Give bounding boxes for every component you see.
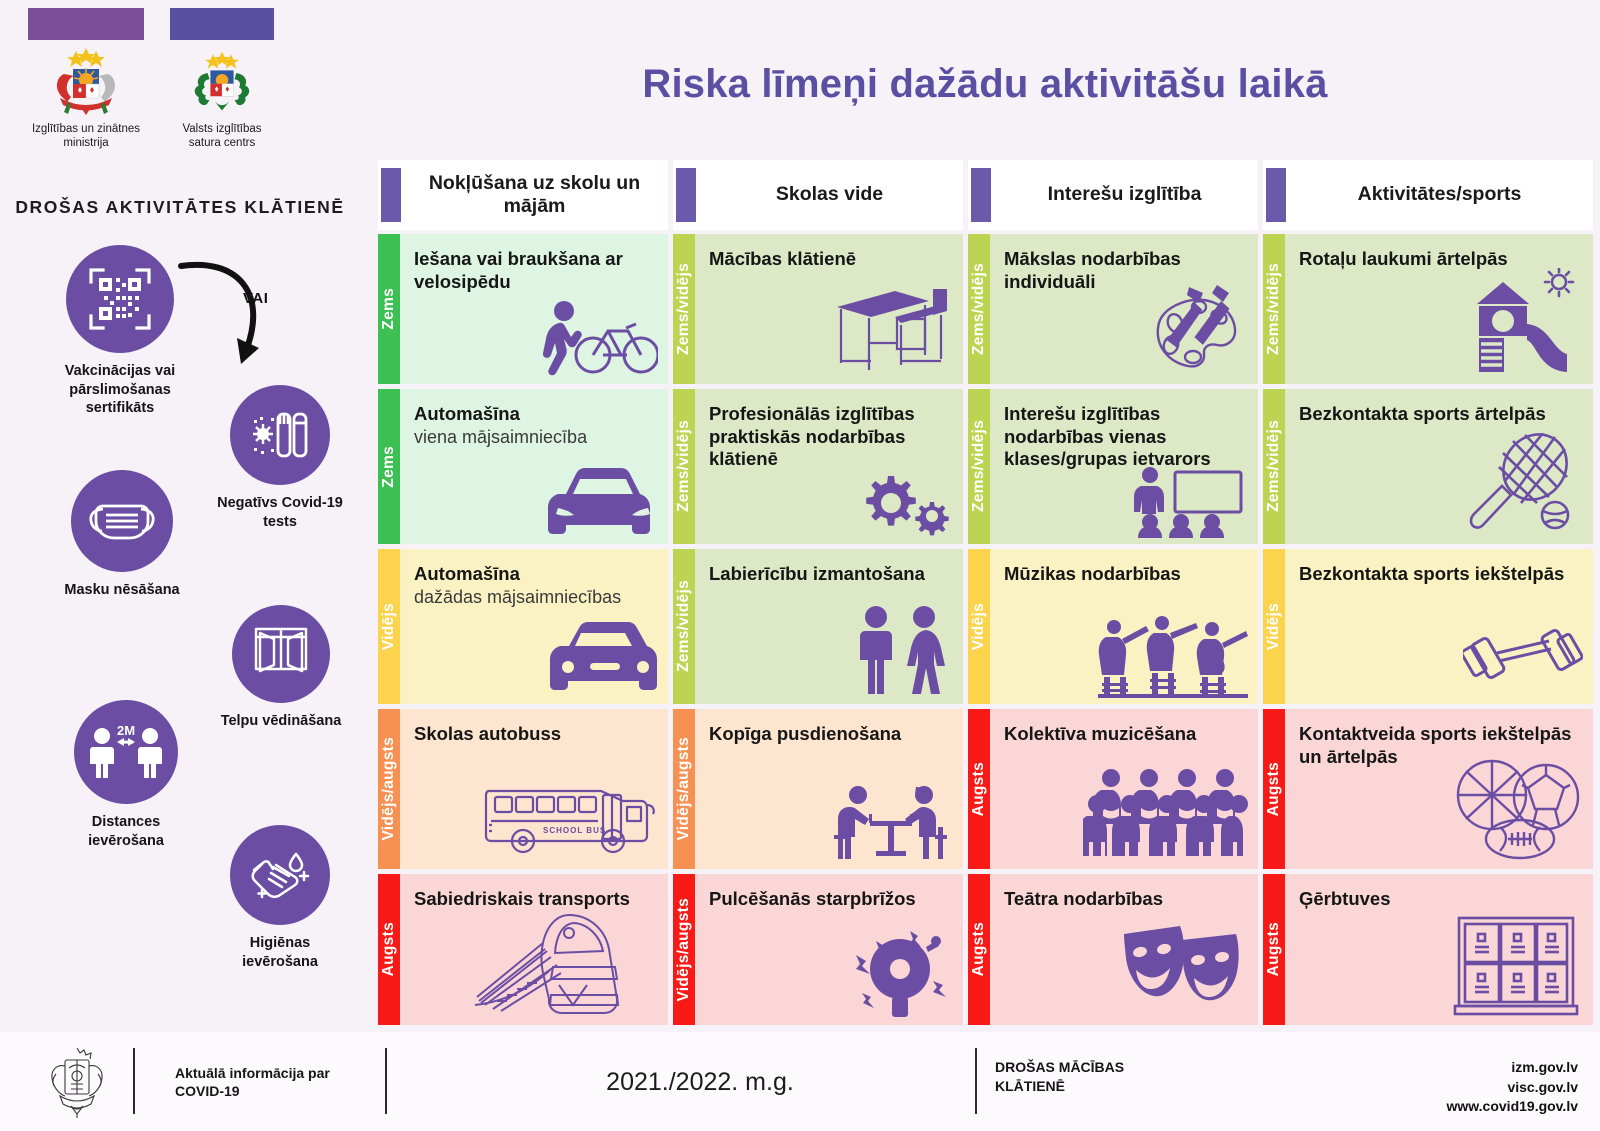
cell-title: Bezkontakta sports ārtelpās [1299,403,1581,426]
team-sport-balls-icon [1448,753,1583,863]
risk-bar: Zems/vidējs [968,389,990,544]
latvia-crest-oak-icon [181,46,263,118]
vai-label: VAI [243,290,268,307]
cell-interesu-izglitibas-nodarbibas[interactable]: Zems/vidējs Interešu izglītības nodarbīb… [968,389,1258,544]
school-bell-icon [828,919,953,1019]
cell-body: Kopīga pusdienošana [695,709,963,869]
column-interesu-izglitiba: Interešu izglītība Zems/vidējs Mākslas n… [968,160,1258,1025]
choir-group-icon [1083,768,1248,863]
footer-link-visc[interactable]: visc.gov.lv [1447,1078,1578,1098]
cell-title: Mūzikas nodarbības [1004,563,1246,586]
cell-title: Rotaļu laukumi ārtelpās [1299,248,1581,271]
cell-body: Automašīna viena mājsaimniecība [400,389,668,544]
measure-negative-test: Negatīvs Covid-19 tests [205,385,355,531]
teacher-whiteboard-class-icon [1133,466,1248,538]
risk-bar: Augsts [968,874,990,1025]
cell-muzikas-nodarbibas[interactable]: Vidējs Mūzikas nodarbības [968,549,1258,704]
column-header: Nokļūšana uz skolu un mājām [378,160,668,230]
school-desk-chair-icon [833,283,953,378]
cell-sabiedriskais-transports[interactable]: Augsts Sabiedriskais transports [378,874,668,1025]
risk-bar: Vidējs/augsts [673,709,695,869]
cell-body: Profesionālās izglītības praktiskās noda… [695,389,963,544]
footer: Aktuālā informācija par COVID-19 2021./2… [0,1032,1600,1131]
measure-mask: Masku nēsāšana [58,470,186,600]
cell-title: Teātra nodarbības [1004,888,1246,911]
measure-distance: 2M Distances ievērošana [62,700,190,850]
cell-body: Bezkontakta sports iekštelpās [1285,549,1593,704]
cell-title: Kontaktveida sports iekštelpās un ārtelp… [1299,723,1581,768]
page-title: Riska līmeņi dažādu aktivitāšu laikā [380,62,1590,107]
crest-visc [170,46,274,118]
footer-divider-1 [133,1048,135,1114]
cell-body: Rotaļu laukumi ārtelpās [1285,234,1593,384]
risk-bar: Zems/vidējs [673,549,695,704]
cell-automasina-viena[interactable]: Zems Automašīna viena mājsaimniecība [378,389,668,544]
cell-body: Skolas autobuss [400,709,668,869]
cell-body: Sabiedriskais transports [400,874,668,1025]
cyclist-walking-bike-icon [533,298,658,378]
cell-body: Interešu izglītības nodarbības vienas kl… [990,389,1258,544]
people-dining-table-icon [828,783,953,863]
column-header: Aktivitātes/sports [1263,160,1593,230]
risk-bar: Vidējs/augsts [673,874,695,1025]
cell-title: Bezkontakta sports iekštelpās [1299,563,1581,586]
cell-gerbtuves[interactable]: Augsts Ģērbtuves [1263,874,1593,1025]
cell-teatra-nodarbibas[interactable]: Augsts Teātra nodarbības [968,874,1258,1025]
column-accent-bar [676,168,696,222]
logo-izm: Izglītības un zinātnes ministrija [28,8,144,150]
risk-bar: Vidējs [968,549,990,704]
cell-subtitle: dažādas mājsaimniecības [414,587,656,609]
latvia-crest-full-icon [40,46,132,118]
column-accent-bar [971,168,991,222]
cell-title: Automašīna [414,563,656,586]
risk-bar: Augsts [1263,874,1285,1025]
gears-icon [848,468,953,538]
risk-bar: Zems/vidējs [968,234,990,384]
test-tube-icon [230,385,330,485]
risk-bar: Vidējs/augsts [378,709,400,869]
infographic-root: Izglītības un zinātnes ministrija [0,0,1600,1131]
cell-title: Labierīcību izmantošana [709,563,951,586]
measure-label: Distances ievērošana [62,813,190,850]
column-accent-bar [1266,168,1286,222]
measure-vaccination-certificate: Vakcinācijas vai pārslimošanas sertifikā… [50,245,190,418]
train-icon [473,909,658,1019]
tennis-racket-ball-icon [1463,433,1583,538]
cell-kontaktveida-sports[interactable]: Augsts Kontaktveida sports iekštelpās un… [1263,709,1593,869]
cell-makslas-nodarbibas[interactable]: Zems/vidējs Mākslas nodarbības individuā… [968,234,1258,384]
measure-label: Vakcinācijas vai pārslimošanas sertifikā… [50,362,190,418]
playground-slide-icon [1463,268,1583,378]
footer-divider-3 [975,1048,977,1114]
restroom-people-icon [848,603,953,698]
risk-bar: Zems [378,234,400,384]
cell-profesionalas-izglitibas[interactable]: Zems/vidējs Profesionālās izglītības pra… [673,389,963,544]
footer-divider-2 [385,1048,387,1114]
cell-body: Bezkontakta sports ārtelpās [1285,389,1593,544]
risk-bar: Zems/vidējs [673,234,695,384]
cell-rotalu-laukumi[interactable]: Zems/vidējs Rotaļu laukumi ārtelpās [1263,234,1593,384]
cell-body: Pulcēšanās starpbrīžos [695,874,963,1025]
cell-title: Ģērbtuves [1299,888,1581,911]
measure-label: Higiēnas ievērošana [210,934,350,971]
cell-title: Kopīga pusdienošana [709,723,951,746]
cell-title: Kolektīva muzicēšana [1004,723,1246,746]
open-window-icon [232,605,330,703]
risk-bar: Zems/vidējs [1263,389,1285,544]
car-front-icon [548,466,658,538]
school-bus-icon: SCHOOL BUS [483,773,658,863]
cell-body: Ģērbtuves [1285,874,1593,1025]
measure-ventilation: Telpu vēdināšana [215,605,347,731]
column-skolas-vide: Skolas vide Zems/vidējs Mācības klātienē [673,160,963,1025]
face-mask-icon [71,470,173,572]
dumbbell-icon [1463,613,1583,698]
paint-palette-brushes-icon [1133,283,1248,378]
social-distance-icon: 2M [74,700,178,804]
vai-arrow-icon [175,252,280,382]
cell-title: Interešu izglītības nodarbības vienas kl… [1004,403,1246,471]
risk-bar: Zems/vidējs [673,389,695,544]
column-nokluasana: Nokļūšana uz skolu un mājām Zems Iešana … [378,160,668,1025]
qr-certificate-icon [66,245,174,353]
cell-title: Pulcēšanās starpbrīžos [709,888,951,911]
cell-title: Automašīna [414,403,656,426]
cell-automasina-dazadas[interactable]: Vidējs Automašīna dažādas mājsaimniecība… [378,549,668,704]
cell-bezkontakta-sports-artelpas[interactable]: Zems/vidējs Bezkontakta sports ārtelpās [1263,389,1593,544]
risk-bar: Vidējs [1263,549,1285,704]
column-header-label: Nokļūšana uz skolu un mājām [401,172,668,219]
sidebar-title: DROŠAS AKTIVITĀTES KLĀTIENĒ [0,197,360,218]
theatre-masks-icon [1118,924,1248,1019]
measure-label: Negatīvs Covid-19 tests [205,494,355,531]
logo-row: Izglītības un zinātnes ministrija [20,8,280,158]
logo-visc: Valsts izglītības satura centrs [170,8,274,150]
cell-body: Mācības klātienē [695,234,963,384]
column-aktivitates-sports: Aktivitātes/sports Zems/vidējs Rotaļu la… [1263,160,1593,1025]
cell-body: Mūzikas nodarbības [990,549,1258,704]
footer-crest [38,1044,116,1123]
measure-label: Telpu vēdināšana [215,712,347,731]
cell-body: Iešana vai braukšana ar velosipēdu [400,234,668,384]
cell-title: Sabiedriskais transports [414,888,656,911]
column-accent-bar [381,168,401,222]
cell-macibas-klatiene[interactable]: Zems/vidējs Mācības klātienē [673,234,963,384]
cell-bezkontakta-sports-iekstelpas[interactable]: Vidējs Bezkontakta sports iekštelpās [1263,549,1593,704]
cell-body: Kolektīva muzicēšana [990,709,1258,869]
risk-bar: Vidējs [378,549,400,704]
column-header-label: Interešu izglītība [991,183,1258,206]
risk-matrix: Nokļūšana uz skolu un mājām Zems Iešana … [378,160,1593,1025]
cell-body: Teātra nodarbības [990,874,1258,1025]
lockers-icon [1453,914,1583,1019]
cell-body: Automašīna dažādas mājsaimniecības [400,549,668,704]
footer-covid-info[interactable]: Aktuālā informācija par COVID-19 [175,1064,375,1101]
logo-izm-caption: Izglītības un zinātnes ministrija [28,122,144,150]
cell-title: Iešana vai braukšana ar velosipēdu [414,248,656,293]
cell-labiericibu-izmantosana[interactable]: Zems/vidējs Labierīcību izmantošana [673,549,963,704]
crest-izm [28,46,144,118]
footer-link-izm[interactable]: izm.gov.lv [1447,1058,1578,1078]
cell-body: Mākslas nodarbības individuāli [990,234,1258,384]
cell-iesana-velosipeds[interactable]: Zems Iešana vai braukšana ar velosipēdu [378,234,668,384]
column-header-label: Aktivitātes/sports [1286,183,1593,206]
risk-bar: Zems [378,389,400,544]
logo-visc-caption: Valsts izglītības satura centrs [170,122,274,150]
column-header-label: Skolas vide [696,183,963,206]
hand-washing-icon [230,825,330,925]
cell-pulcesanas-starpbrizos[interactable]: Vidējs/augsts Pulcēšanās starpbrīžos [673,874,963,1025]
sidebar: Izglītības un zinātnes ministrija [0,0,372,1026]
measure-label: Masku nēsāšana [58,581,186,600]
svg-text:2M: 2M [117,723,135,738]
cell-body: Kontaktveida sports iekštelpās un ārtelp… [1285,709,1593,869]
column-header: Interešu izglītība [968,160,1258,230]
risk-bar: Augsts [1263,709,1285,869]
risk-bar: Augsts [378,874,400,1025]
cell-subtitle: viena mājsaimniecība [414,427,656,449]
footer-links[interactable]: izm.gov.lv visc.gov.lv www.covid19.gov.l… [1447,1058,1578,1117]
footer-school-year: 2021./2022. m.g. [520,1068,880,1097]
risk-bar: Augsts [968,709,990,869]
cell-title: Skolas autobuss [414,723,656,746]
svg-text:SCHOOL BUS: SCHOOL BUS [543,826,606,835]
measure-hygiene: Higiēnas ievērošana [210,825,350,971]
cell-kolektiva-muzicesana[interactable]: Augsts Kolektīva muzicēšana [968,709,1258,869]
risk-bar: Zems/vidējs [1263,234,1285,384]
logo-visc-bar [170,8,274,40]
car-multiple-passengers-icon [548,620,658,698]
cell-title: Profesionālās izglītības praktiskās noda… [709,403,951,471]
cell-skolas-autobuss[interactable]: Vidējs/augsts Skolas autobuss [378,709,668,869]
cell-title: Mākslas nodarbības individuāli [1004,248,1246,293]
column-header: Skolas vide [673,160,963,230]
string-orchestra-icon [1098,613,1248,698]
footer-campaign: DROŠAS MĀCĪBAS KLĀTIENĒ [995,1058,1195,1096]
cell-title: Mācības klātienē [709,248,951,271]
logo-izm-bar [28,8,144,40]
cell-body: Labierīcību izmantošana [695,549,963,704]
footer-link-covid19[interactable]: www.covid19.gov.lv [1447,1097,1578,1117]
cell-kopiga-pusdienosana[interactable]: Vidējs/augsts Kopīga pusdienošana [673,709,963,869]
